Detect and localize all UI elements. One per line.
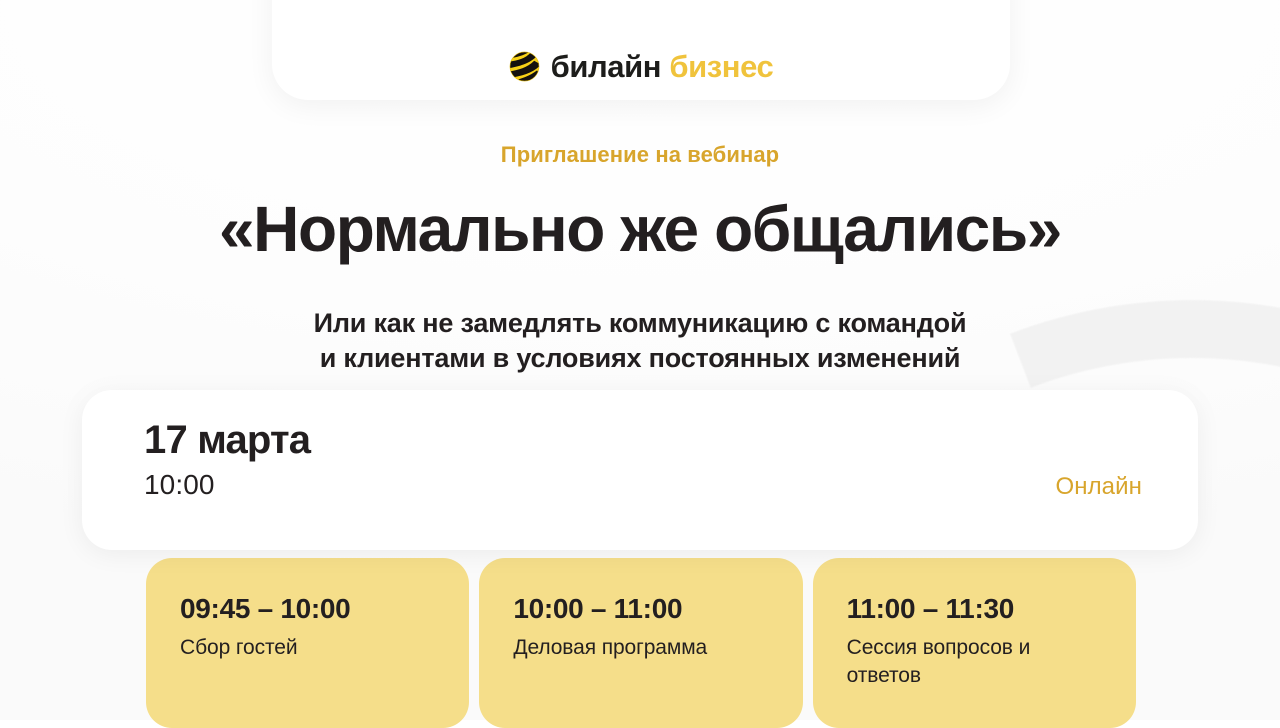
agenda-item-2: 10:00 – 11:00 Деловая программа [479,558,802,728]
agenda-item-time: 10:00 – 11:00 [513,594,768,625]
agenda-item-label: Сессия вопросов и ответов [847,634,1102,689]
agenda-item-label: Деловая программа [513,634,768,662]
event-time: 10:00 [144,470,310,501]
brand-header-card: билайн бизнес [272,0,1010,100]
page-title: «Нормально же общались» [0,196,1280,263]
event-date: 17 марта [144,418,310,463]
agenda-item-3: 11:00 – 11:30 Сессия вопросов и ответов [813,558,1136,728]
agenda-item-time: 09:45 – 10:00 [180,594,435,625]
agenda-item-1: 09:45 – 10:00 Сбор гостей [146,558,469,728]
logo-wordmark: билайн бизнес [551,51,774,82]
page-subtitle-line-2: и клиентами в условиях постоянных измене… [0,341,1280,377]
logo-word-secondary: бизнес [669,49,773,84]
webinar-invitation-eyebrow: Приглашение на вебинар [0,142,1280,168]
logo-word-primary: билайн [551,49,662,84]
page-subtitle-line-1: Или как не замедлять коммуникацию с кома… [0,306,1280,342]
agenda-item-time: 11:00 – 11:30 [847,594,1102,625]
agenda-item-label: Сбор гостей [180,634,435,662]
page-subtitle: Или как не замедлять коммуникацию с кома… [0,306,1280,377]
event-details-card: 17 марта 10:00 Онлайн [82,390,1198,550]
event-datetime-group: 17 марта 10:00 [144,418,310,501]
hero-section: Приглашение на вебинар «Нормально же общ… [0,142,1280,377]
agenda-list: 09:45 – 10:00 Сбор гостей 10:00 – 11:00 … [146,558,1136,728]
event-format-badge: Онлайн [1055,474,1142,500]
beeline-business-logo: билайн бизнес [509,51,774,82]
beeline-bee-icon [509,51,540,82]
